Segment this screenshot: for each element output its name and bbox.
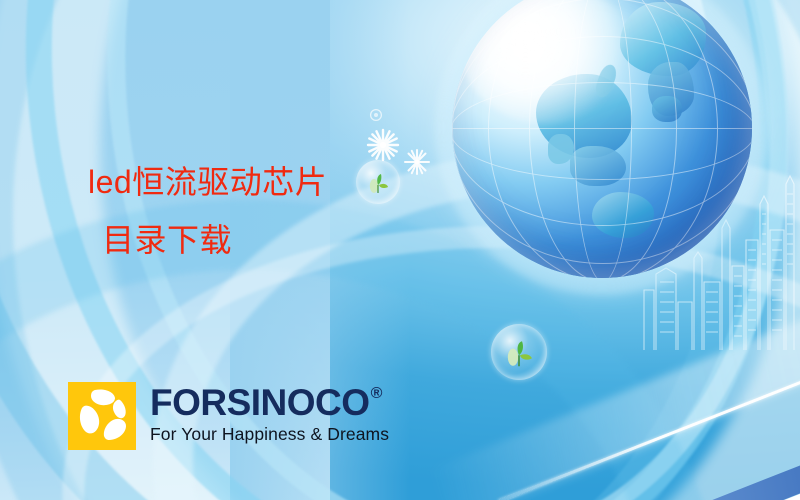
starburst-sparkle-icon — [366, 128, 400, 162]
green-sprout-icon — [365, 171, 391, 195]
soap-bubble-icon — [356, 160, 400, 204]
soap-bubble-icon — [491, 324, 547, 380]
green-sprout-icon — [502, 338, 536, 368]
headline-line-2: 目录下载 — [88, 224, 327, 256]
logo-text-block: FORSINOCO ® For Your Happiness & Dreams — [150, 382, 389, 445]
company-logo: FORSINOCO ® For Your Happiness & Dreams — [68, 382, 389, 450]
logo-tagline: For Your Happiness & Dreams — [150, 424, 389, 445]
registered-trademark-symbol: ® — [371, 386, 382, 402]
four-petal-flower-icon — [68, 382, 136, 450]
logo-wordmark: FORSINOCO ® — [150, 384, 389, 421]
headline-line-1: led恒流驱动芯片 — [88, 164, 327, 200]
globe-icon — [452, 0, 752, 278]
logo-name-text: FORSINOCO — [150, 384, 370, 421]
starburst-sparkle-icon — [369, 108, 383, 122]
starburst-sparkle-icon — [403, 148, 431, 176]
promotional-banner: led恒流驱动芯片 目录下载 FORSINOCO ® For Your Happ… — [0, 0, 800, 500]
headline: led恒流驱动芯片 目录下载 — [88, 166, 327, 256]
